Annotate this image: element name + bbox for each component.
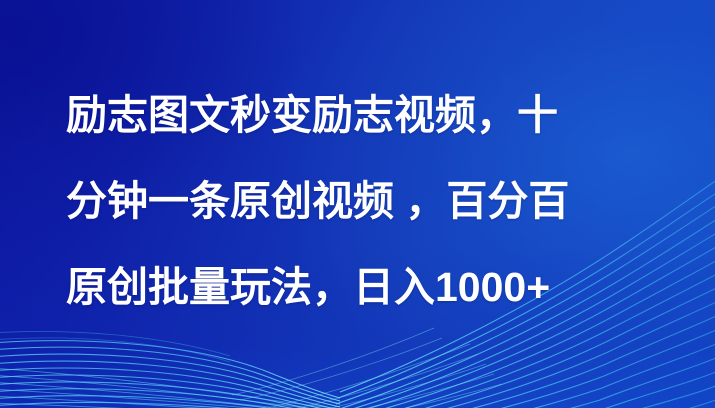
headline-line-2: 分钟一条原创视频 ，百分百 — [66, 158, 682, 244]
headline-line-1: 励志图文秒变励志视频，十 — [66, 72, 682, 158]
banner-headline: 励志图文秒变励志视频，十 分钟一条原创视频 ，百分百 原创批量玩法，日入1000… — [66, 72, 682, 330]
headline-line-3: 原创批量玩法，日入1000+ — [66, 244, 682, 330]
promo-banner: 励志图文秒变励志视频，十 分钟一条原创视频 ，百分百 原创批量玩法，日入1000… — [0, 0, 715, 408]
